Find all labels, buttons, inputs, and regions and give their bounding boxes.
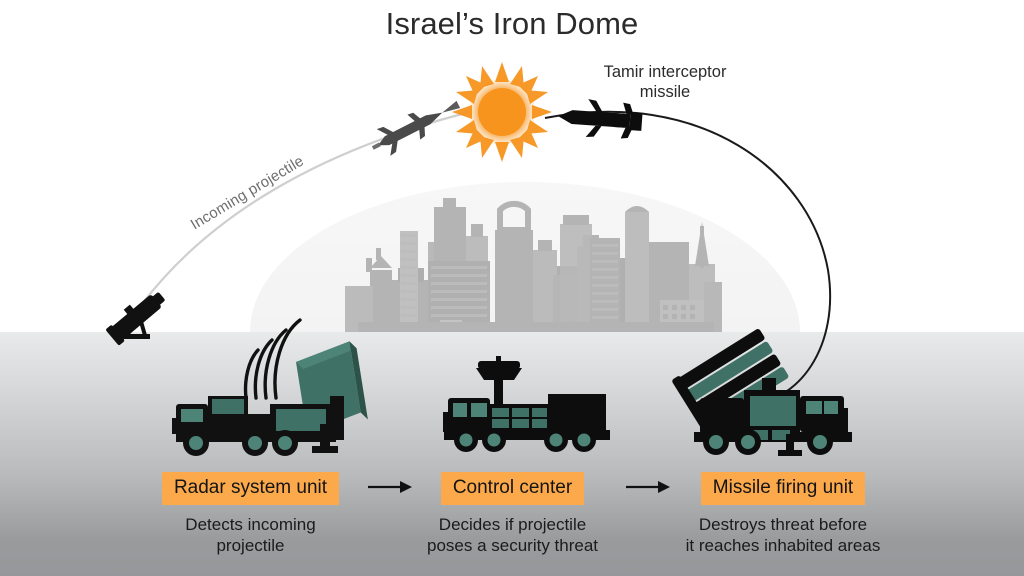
control-center-truck-icon — [443, 356, 610, 452]
incoming-rocket-icon — [366, 91, 465, 161]
explosion-burst-icon — [452, 62, 552, 162]
step-control-center: Control center Decides if projectile pos… — [390, 472, 635, 556]
radar-truck-icon — [170, 320, 368, 456]
step-caption-missile: Destroys threat before it reaches inhabi… — [652, 514, 914, 556]
infographic-canvas: Israel’s Iron Dome Tamir interceptor mis… — [0, 0, 1024, 576]
status-badge-radar: Radar system unit — [162, 472, 339, 505]
missile-launcher-truck-icon — [671, 326, 852, 456]
enemy-launcher-icon — [105, 288, 168, 346]
step-radar-system-unit: Radar system unit Detects incoming proje… — [128, 472, 373, 556]
step-caption-radar: Detects incoming projectile — [128, 514, 373, 556]
page-title: Israel’s Iron Dome — [0, 6, 1024, 42]
interceptor-missile-label: Tamir interceptor missile — [570, 62, 760, 102]
interceptor-missile-icon — [557, 97, 643, 141]
status-badge-control: Control center — [441, 472, 584, 505]
step-caption-control: Decides if projectile poses a security t… — [390, 514, 635, 556]
status-badge-missile: Missile firing unit — [701, 472, 865, 505]
step-missile-firing-unit: Missile firing unit Destroys threat befo… — [652, 472, 914, 556]
